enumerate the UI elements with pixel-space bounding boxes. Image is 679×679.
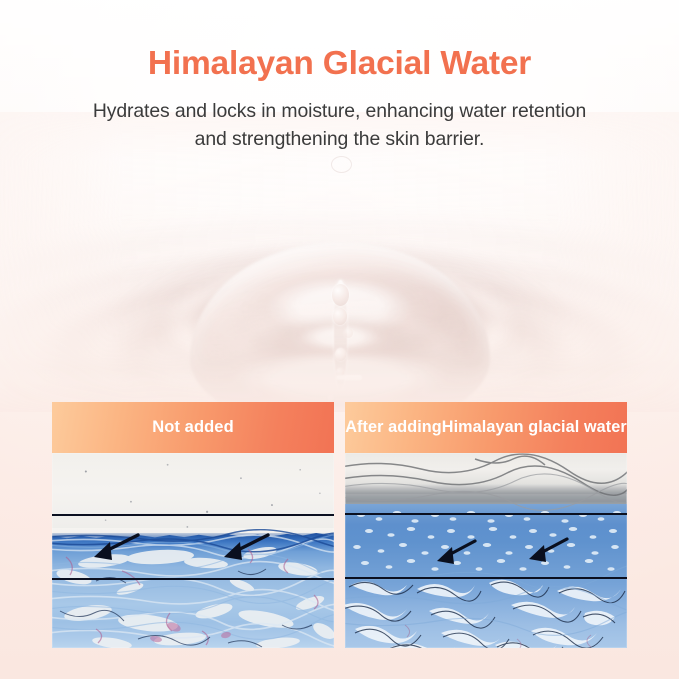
page-subtitle: Hydrates and locks in moisture, enhancin… (75, 97, 605, 153)
skin-histology-not-added (52, 453, 334, 648)
measurement-rule-upper (52, 514, 334, 516)
comparison-panels: Not added (52, 402, 627, 648)
page-title: Himalayan Glacial Water (0, 46, 679, 83)
panel-header-line-2: Himalayan glacial water (442, 418, 627, 437)
panel-header-line-1: After adding (345, 418, 442, 437)
annotation-arrow-right (218, 533, 270, 563)
comparison-panel-not-added: Not added (52, 402, 334, 648)
product-claim-poster: Himalayan Glacial Water Hydrates and loc… (0, 0, 679, 679)
comparison-panel-after-adding: After adding Himalayan glacial water (345, 402, 627, 648)
measurement-rule-lower (52, 578, 334, 580)
measurement-rule-lower (345, 577, 627, 579)
headline-block: Himalayan Glacial Water Hydrates and loc… (0, 46, 679, 153)
panel-header-not-added: Not added (52, 402, 334, 453)
panel-header-after-adding: After adding Himalayan glacial water (345, 402, 627, 453)
annotation-arrow-left (88, 533, 140, 563)
skin-histology-after-adding (345, 453, 627, 648)
water-droplet-ripple-photo (0, 112, 679, 412)
annotation-arrow-left (431, 539, 477, 567)
collagen-fiber-texture (345, 453, 627, 648)
annotation-arrow-right (523, 537, 569, 565)
measurement-rule-upper (345, 513, 627, 515)
photo-edge-fade (0, 112, 679, 412)
